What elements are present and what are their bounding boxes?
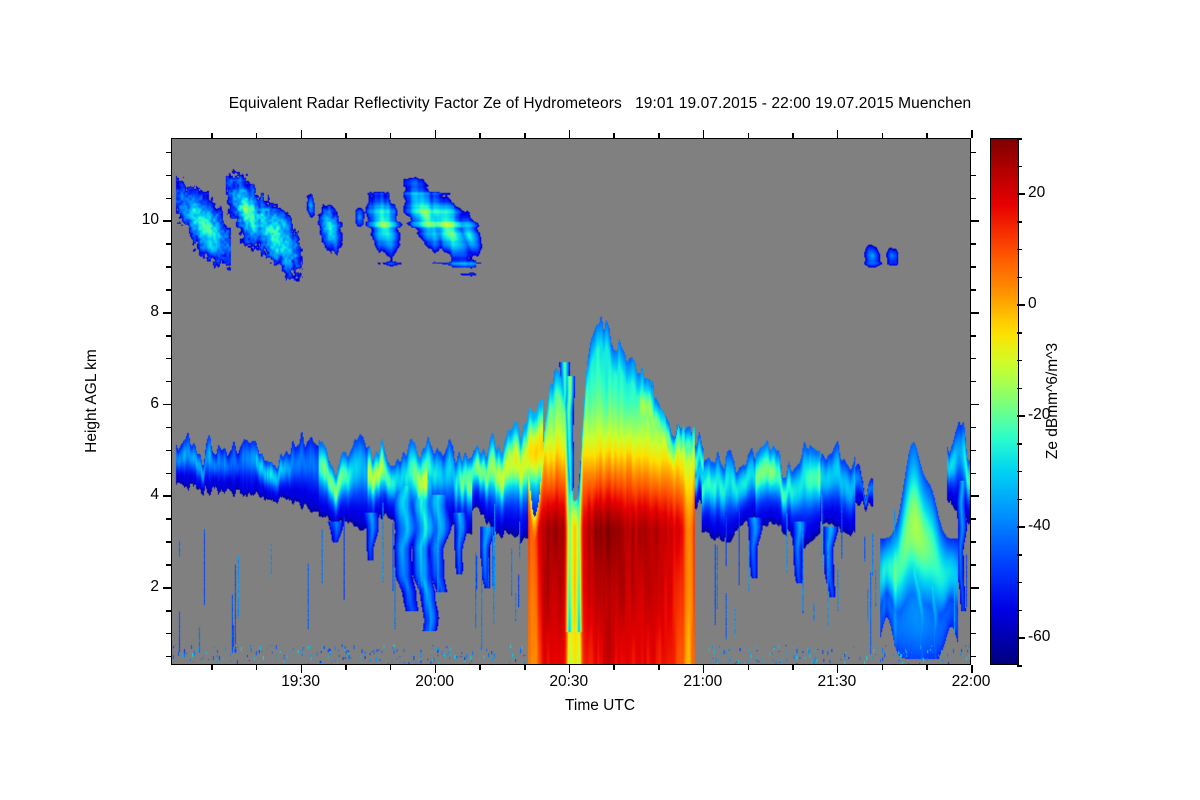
x-tick-minor <box>613 665 615 670</box>
y-tick-major <box>163 220 171 222</box>
y-tick-minor-right <box>971 358 976 360</box>
y-tick-minor <box>166 518 171 520</box>
colorbar-tick-minor <box>1017 665 1022 667</box>
x-tick-major-top <box>703 130 705 138</box>
y-tick-minor-right <box>971 198 976 200</box>
x-tick-minor <box>792 665 794 670</box>
x-tick-major <box>971 665 973 673</box>
y-tick-minor <box>166 335 171 337</box>
x-tick-minor <box>658 665 660 670</box>
plot-area <box>171 138 971 665</box>
y-tick-minor-right <box>971 152 976 154</box>
colorbar-tick-minor <box>1017 221 1022 223</box>
y-tick-minor-right <box>971 610 976 612</box>
colorbar-tick-minor <box>1017 249 1022 251</box>
x-tick-minor-top <box>256 133 258 138</box>
colorbar-tick-label: -60 <box>1028 628 1050 646</box>
x-tick-major-top <box>435 130 437 138</box>
x-tick-label: 21:30 <box>777 673 897 691</box>
y-tick-minor <box>166 243 171 245</box>
y-tick-minor-right <box>971 335 976 337</box>
colorbar-tick-major <box>1017 637 1025 639</box>
colorbar-tick-label: 20 <box>1028 184 1045 202</box>
x-tick-minor-top <box>658 133 660 138</box>
x-tick-major-top <box>837 130 839 138</box>
x-tick-major-top <box>301 130 303 138</box>
colorbar-tick-label: 0 <box>1028 295 1037 313</box>
x-tick-label: 20:30 <box>509 673 629 691</box>
y-tick-minor-right <box>971 541 976 543</box>
colorbar-tick-major <box>1017 415 1025 417</box>
colorbar-tick-major <box>1017 304 1025 306</box>
y-tick-minor-right <box>971 243 976 245</box>
colorbar-tick-label: -40 <box>1028 517 1050 535</box>
x-tick-label: 19:30 <box>241 673 361 691</box>
x-tick-minor-top <box>792 133 794 138</box>
y-tick-label: 10 <box>109 211 159 229</box>
colorbar-gradient <box>991 139 1018 664</box>
y-tick-minor-right <box>971 633 976 635</box>
x-tick-minor-top <box>211 133 213 138</box>
colorbar-tick-minor <box>1017 499 1022 501</box>
x-tick-minor <box>926 665 928 670</box>
x-tick-minor-top <box>345 133 347 138</box>
y-tick-major <box>163 404 171 406</box>
x-tick-minor-top <box>390 133 392 138</box>
y-tick-label: 8 <box>109 303 159 321</box>
radar-plot-figure: Equivalent Radar Reflectivity Factor Ze … <box>0 0 1200 800</box>
x-tick-major-top <box>569 130 571 138</box>
y-tick-minor <box>166 427 171 429</box>
y-tick-minor <box>166 473 171 475</box>
x-tick-minor <box>390 665 392 670</box>
y-tick-major-right <box>971 220 979 222</box>
colorbar-tick-minor <box>1017 443 1022 445</box>
colorbar-tick-minor <box>1017 610 1022 612</box>
x-tick-minor-top <box>524 133 526 138</box>
x-tick-major <box>569 665 571 673</box>
x-axis-title: Time UTC <box>0 697 1200 715</box>
y-tick-minor-right <box>971 427 976 429</box>
reflectivity-heatmap-canvas <box>172 139 970 664</box>
y-tick-label: 4 <box>109 486 159 504</box>
y-tick-minor-right <box>971 450 976 452</box>
colorbar-tick-minor <box>1017 360 1022 362</box>
y-tick-minor <box>166 633 171 635</box>
x-tick-minor-top <box>882 133 884 138</box>
x-tick-major <box>703 665 705 673</box>
colorbar-title: Ze dBmm^6/m^3 <box>1044 343 1062 459</box>
y-tick-minor <box>166 289 171 291</box>
colorbar-tick-minor <box>1017 582 1022 584</box>
colorbar-tick-minor <box>1017 471 1022 473</box>
y-tick-minor-right <box>971 518 976 520</box>
x-tick-minor-top <box>748 133 750 138</box>
x-tick-major <box>837 665 839 673</box>
y-tick-minor-right <box>971 381 976 383</box>
y-tick-major-right <box>971 312 979 314</box>
x-tick-minor <box>748 665 750 670</box>
y-tick-minor-right <box>971 175 976 177</box>
x-tick-major-top <box>971 130 973 138</box>
colorbar-tick-minor <box>1017 332 1022 334</box>
y-tick-minor-right <box>971 289 976 291</box>
x-tick-minor <box>524 665 526 670</box>
y-tick-minor <box>166 564 171 566</box>
x-tick-minor-top <box>479 133 481 138</box>
y-tick-minor <box>166 152 171 154</box>
colorbar-tick-minor <box>1017 138 1022 140</box>
y-tick-minor <box>166 358 171 360</box>
y-tick-major-right <box>971 495 979 497</box>
y-tick-minor-right <box>971 266 976 268</box>
y-tick-minor <box>166 266 171 268</box>
y-tick-minor <box>166 541 171 543</box>
y-tick-minor <box>166 656 171 658</box>
x-tick-minor-top <box>613 133 615 138</box>
y-tick-label: 6 <box>109 395 159 413</box>
x-tick-major <box>301 665 303 673</box>
x-tick-label: 22:00 <box>911 673 1031 691</box>
x-tick-minor <box>479 665 481 670</box>
x-tick-label: 21:00 <box>643 673 763 691</box>
x-tick-minor <box>211 665 213 670</box>
y-tick-minor-right <box>971 656 976 658</box>
x-tick-minor <box>256 665 258 670</box>
x-tick-major <box>435 665 437 673</box>
y-tick-minor-right <box>971 473 976 475</box>
y-tick-minor <box>166 450 171 452</box>
figure-title: Equivalent Radar Reflectivity Factor Ze … <box>0 95 1200 113</box>
y-tick-major-right <box>971 404 979 406</box>
x-tick-minor <box>882 665 884 670</box>
colorbar-tick-minor <box>1017 166 1022 168</box>
y-tick-minor <box>166 381 171 383</box>
x-tick-minor <box>345 665 347 670</box>
x-tick-label: 20:00 <box>375 673 495 691</box>
colorbar-tick-major <box>1017 193 1025 195</box>
y-tick-label: 2 <box>109 578 159 596</box>
y-axis-title: Height AGL km <box>83 349 101 453</box>
y-tick-major-right <box>971 587 979 589</box>
y-tick-major <box>163 587 171 589</box>
colorbar-tick-major <box>1017 526 1025 528</box>
y-tick-minor <box>166 175 171 177</box>
y-tick-minor <box>166 610 171 612</box>
y-tick-major <box>163 495 171 497</box>
colorbar-tick-minor <box>1017 277 1022 279</box>
colorbar <box>990 138 1019 665</box>
y-tick-minor-right <box>971 564 976 566</box>
y-tick-major <box>163 312 171 314</box>
y-tick-minor <box>166 198 171 200</box>
x-tick-minor-top <box>926 133 928 138</box>
colorbar-tick-minor <box>1017 554 1022 556</box>
colorbar-tick-minor <box>1017 388 1022 390</box>
